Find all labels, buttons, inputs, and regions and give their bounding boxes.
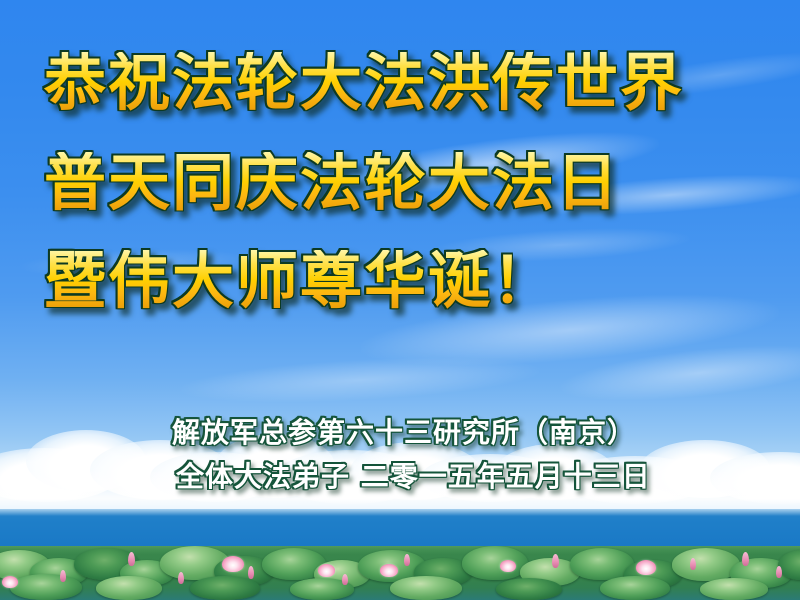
title-line-2: 普天同庆法轮大法日 bbox=[44, 152, 620, 214]
cirrus-wisp bbox=[558, 335, 800, 410]
lotus-bud bbox=[128, 552, 135, 566]
signature-group-and-date: 全体大法弟子 二零一五年五月十三日 bbox=[176, 463, 651, 491]
lotus-blossom bbox=[222, 556, 244, 572]
lotus-bud bbox=[742, 552, 749, 566]
lotus-bud bbox=[342, 574, 348, 585]
lotus-bud bbox=[552, 554, 559, 568]
lotus-blossom bbox=[318, 564, 335, 577]
lotus-blossom bbox=[500, 560, 516, 572]
greeting-card: 恭祝法轮大法洪传世界 普天同庆法轮大法日 暨伟大师尊华诞！ 解放军总参第六十三研… bbox=[0, 0, 800, 600]
horizon-glint bbox=[0, 509, 800, 516]
title-line-3: 暨伟大师尊华诞！ bbox=[44, 250, 556, 312]
lotus-blossom bbox=[636, 560, 656, 575]
lotus-pond bbox=[0, 546, 800, 600]
cirrus-wisp bbox=[179, 351, 541, 410]
lotus-bud bbox=[178, 572, 184, 584]
lotus-bud bbox=[404, 554, 410, 566]
signature-organization: 解放军总参第六十三研究所（南京） bbox=[172, 419, 636, 447]
lotus-bud bbox=[248, 566, 254, 579]
lotus-bud bbox=[776, 566, 782, 578]
lotus-bud bbox=[60, 570, 66, 582]
title-line-1: 恭祝法轮大法洪传世界 bbox=[44, 52, 684, 114]
lotus-bud bbox=[690, 558, 696, 570]
lotus-blossom bbox=[380, 564, 398, 577]
lotus-blossom bbox=[2, 576, 18, 588]
